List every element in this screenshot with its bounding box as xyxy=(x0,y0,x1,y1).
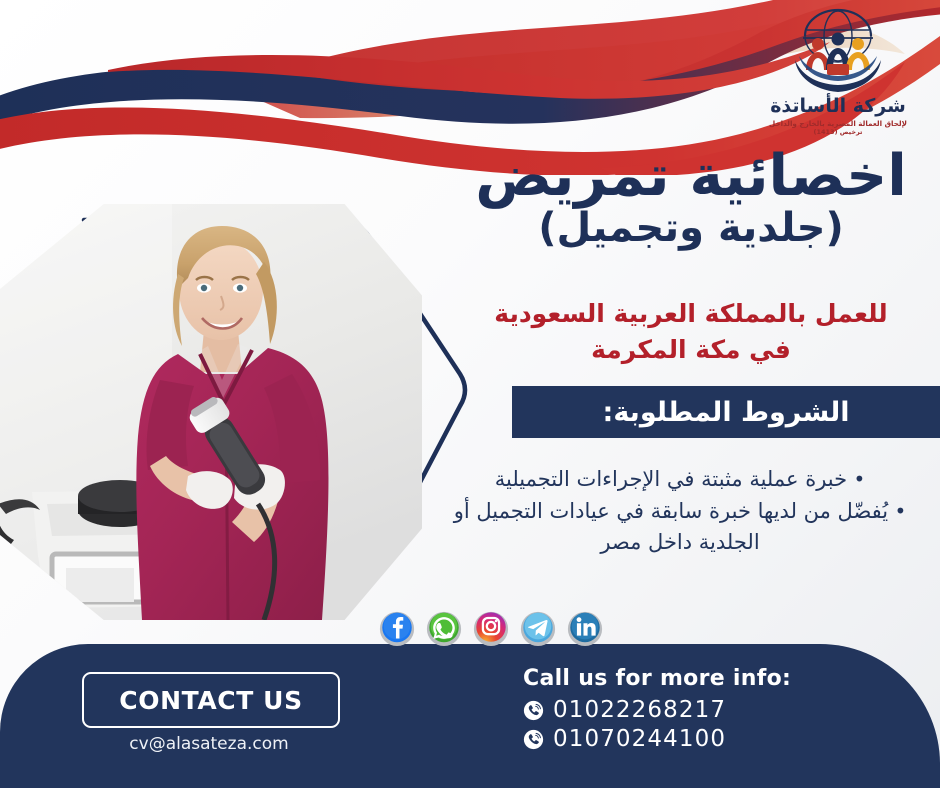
job-title: اخصائية تمريض (جلدية وتجميل) xyxy=(456,146,926,250)
phone-row[interactable]: 01022268217 xyxy=(523,697,791,723)
phone-icon xyxy=(523,700,544,721)
job-ad-poster: شركة الأساتذة لإلحاق العمالة المصرية بال… xyxy=(0,0,940,788)
logo-company-name: شركة الأساتذة xyxy=(754,97,922,117)
call-heading: Call us for more info: xyxy=(523,666,791,691)
list-item: خبرة عملية مثبتة في الإجراءات التجميلية xyxy=(434,464,926,495)
phone-icon xyxy=(523,729,544,750)
job-location: للعمل بالمملكة العربية السعودية في مكة ا… xyxy=(456,296,926,367)
company-logo: شركة الأساتذة لإلحاق العمالة المصرية بال… xyxy=(754,8,922,136)
logo-license: ترخيص (1413) xyxy=(754,129,922,137)
job-location-line1: للعمل بالمملكة العربية السعودية xyxy=(456,296,926,332)
contact-us-button[interactable]: CONTACT US xyxy=(82,672,340,728)
facebook-icon[interactable] xyxy=(378,609,416,647)
linkedin-icon[interactable] xyxy=(566,609,604,647)
conditions-banner-label: الشروط المطلوبة: xyxy=(603,397,850,428)
phone-number: 01070244100 xyxy=(553,726,726,752)
social-links[interactable] xyxy=(378,609,604,647)
phone-row[interactable]: 01070244100 xyxy=(523,726,791,752)
conditions-banner: الشروط المطلوبة: xyxy=(512,386,940,438)
job-location-line2: في مكة المكرمة xyxy=(456,332,926,368)
contact-email[interactable]: cv@alasateza.com xyxy=(82,734,336,754)
list-item: يُفضّل من لديها خبرة سابقة في عيادات الت… xyxy=(434,496,926,558)
footer-bar: CONTACT US cv@alasateza.com Call us for … xyxy=(0,644,940,788)
instagram-icon[interactable] xyxy=(472,609,510,647)
call-info: Call us for more info: 01022268217 01 xyxy=(523,666,791,752)
globe-people-hands-logo-icon xyxy=(783,8,893,96)
whatsapp-icon[interactable] xyxy=(425,609,463,647)
job-title-line1: اخصائية تمريض xyxy=(456,146,926,208)
nurse-photo xyxy=(0,204,422,620)
conditions-list: خبرة عملية مثبتة في الإجراءات التجميلية … xyxy=(434,464,926,559)
telegram-icon[interactable] xyxy=(519,609,557,647)
job-title-line2: (جلدية وتجميل) xyxy=(456,206,926,250)
contact-us-label: CONTACT US xyxy=(119,686,302,715)
phone-number: 01022268217 xyxy=(553,697,726,723)
